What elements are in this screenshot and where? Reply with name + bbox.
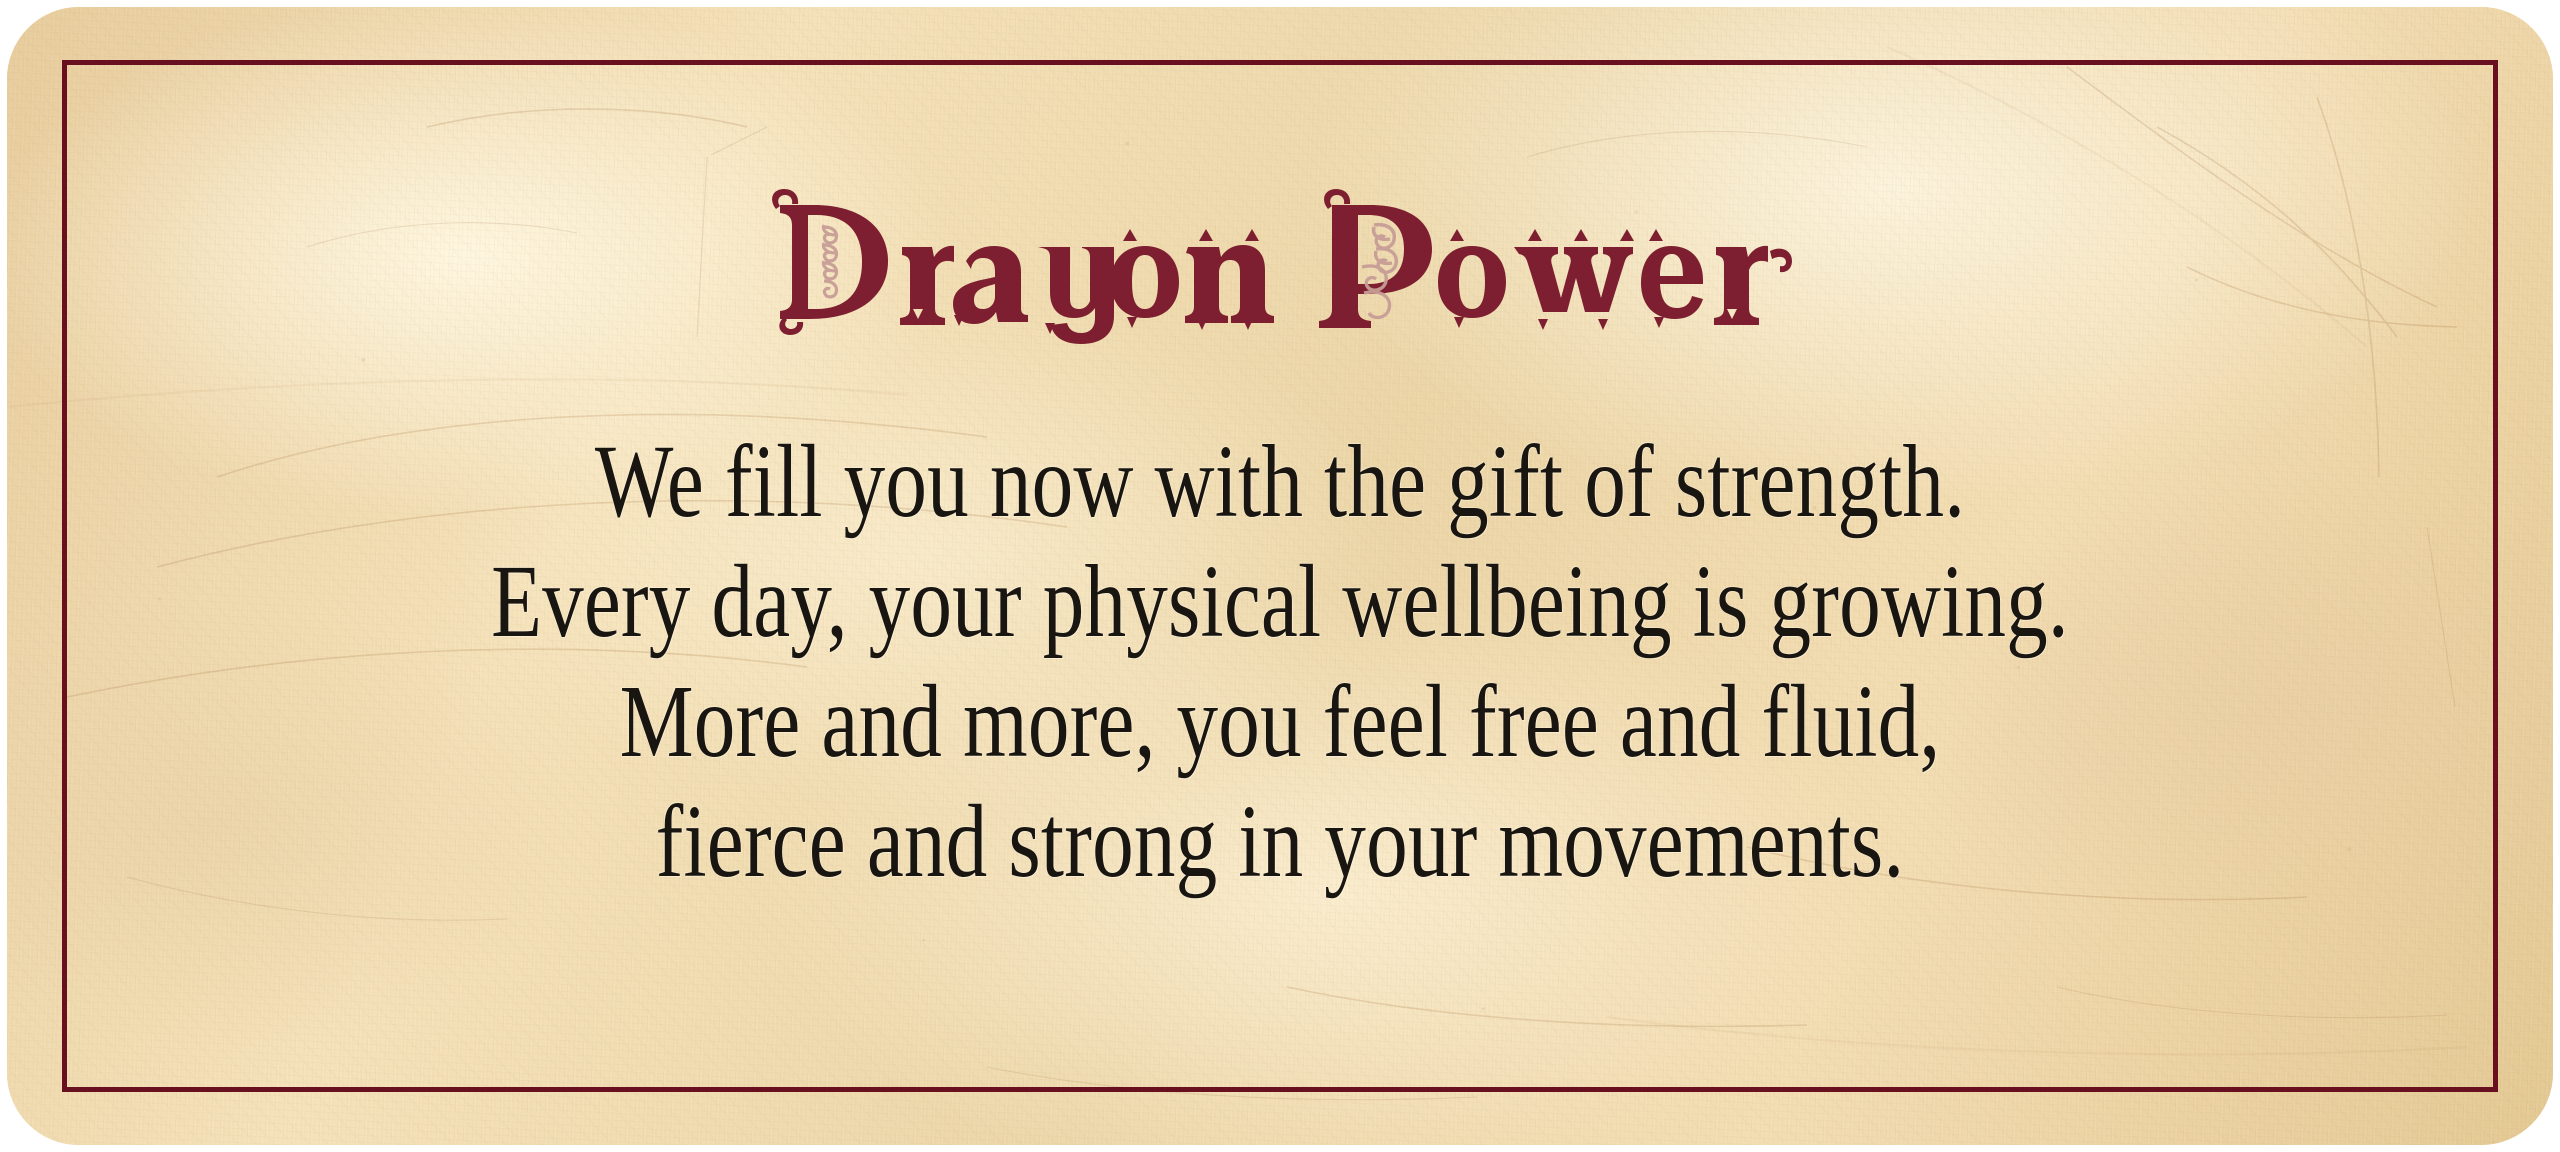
affirmation-line-1: We fill you now with the gift of strengt… — [262, 422, 2299, 542]
screenshot-root: We fill you now with the gift of strengt… — [0, 0, 2560, 1152]
affirmation-line-4: fierce and strong in your movements. — [262, 782, 2299, 902]
affirmation-body: We fill you now with the gift of strengt… — [7, 422, 2553, 902]
affirmation-line-3: More and more, you feel free and fluid, — [262, 662, 2299, 782]
dragon-power-title-art — [750, 183, 1810, 333]
card-title — [867, 183, 1694, 352]
parchment-card: We fill you now with the gift of strengt… — [7, 7, 2553, 1145]
card-content: We fill you now with the gift of strengt… — [7, 7, 2553, 1145]
affirmation-line-2: Every day, your physical wellbeing is gr… — [262, 542, 2299, 662]
